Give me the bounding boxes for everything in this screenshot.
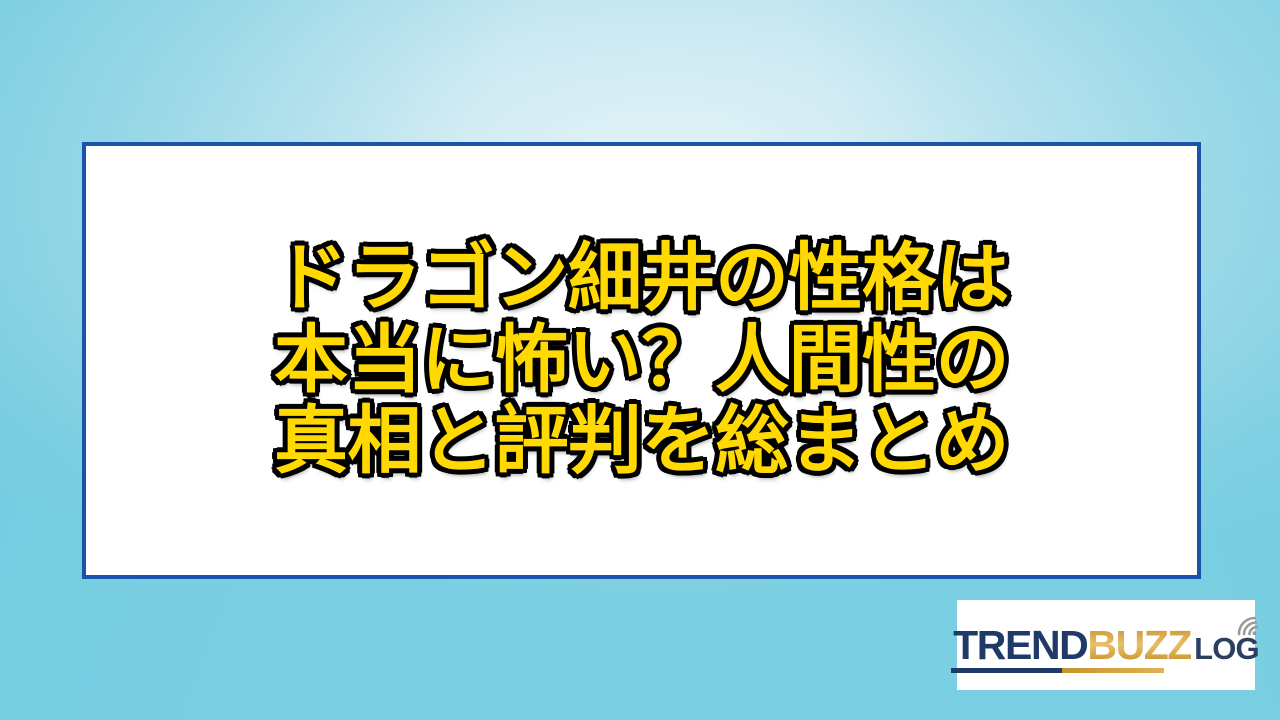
headline-line-1: ドラゴン細井の性格は (274, 238, 1009, 319)
logo-inner: TREND BUZZ LOG (949, 625, 1263, 666)
title-card: ドラゴン細井の性格は 本当に怖い？人間性の 真相と評判を総まとめ (82, 142, 1201, 579)
logo-text-buzz: BUZZ (1087, 625, 1191, 666)
logo-underline-bar (951, 668, 1164, 673)
logo-badge[interactable]: TREND BUZZ LOG (957, 600, 1255, 690)
headline-line-2: 本当に怖い？人間性の (274, 320, 1009, 401)
logo-text-log: LOG (1194, 633, 1259, 664)
headline-line-3: 真相と評判を総まとめ (274, 401, 1009, 482)
headline: ドラゴン細井の性格は 本当に怖い？人間性の 真相と評判を総まとめ (274, 238, 1009, 482)
logo-text-trend: TREND (953, 625, 1087, 666)
wifi-signal-icon (1233, 607, 1267, 637)
logo-wordmark: TREND BUZZ LOG (953, 625, 1259, 666)
thumbnail-canvas: ドラゴン細井の性格は 本当に怖い？人間性の 真相と評判を総まとめ TREND B… (0, 0, 1280, 720)
